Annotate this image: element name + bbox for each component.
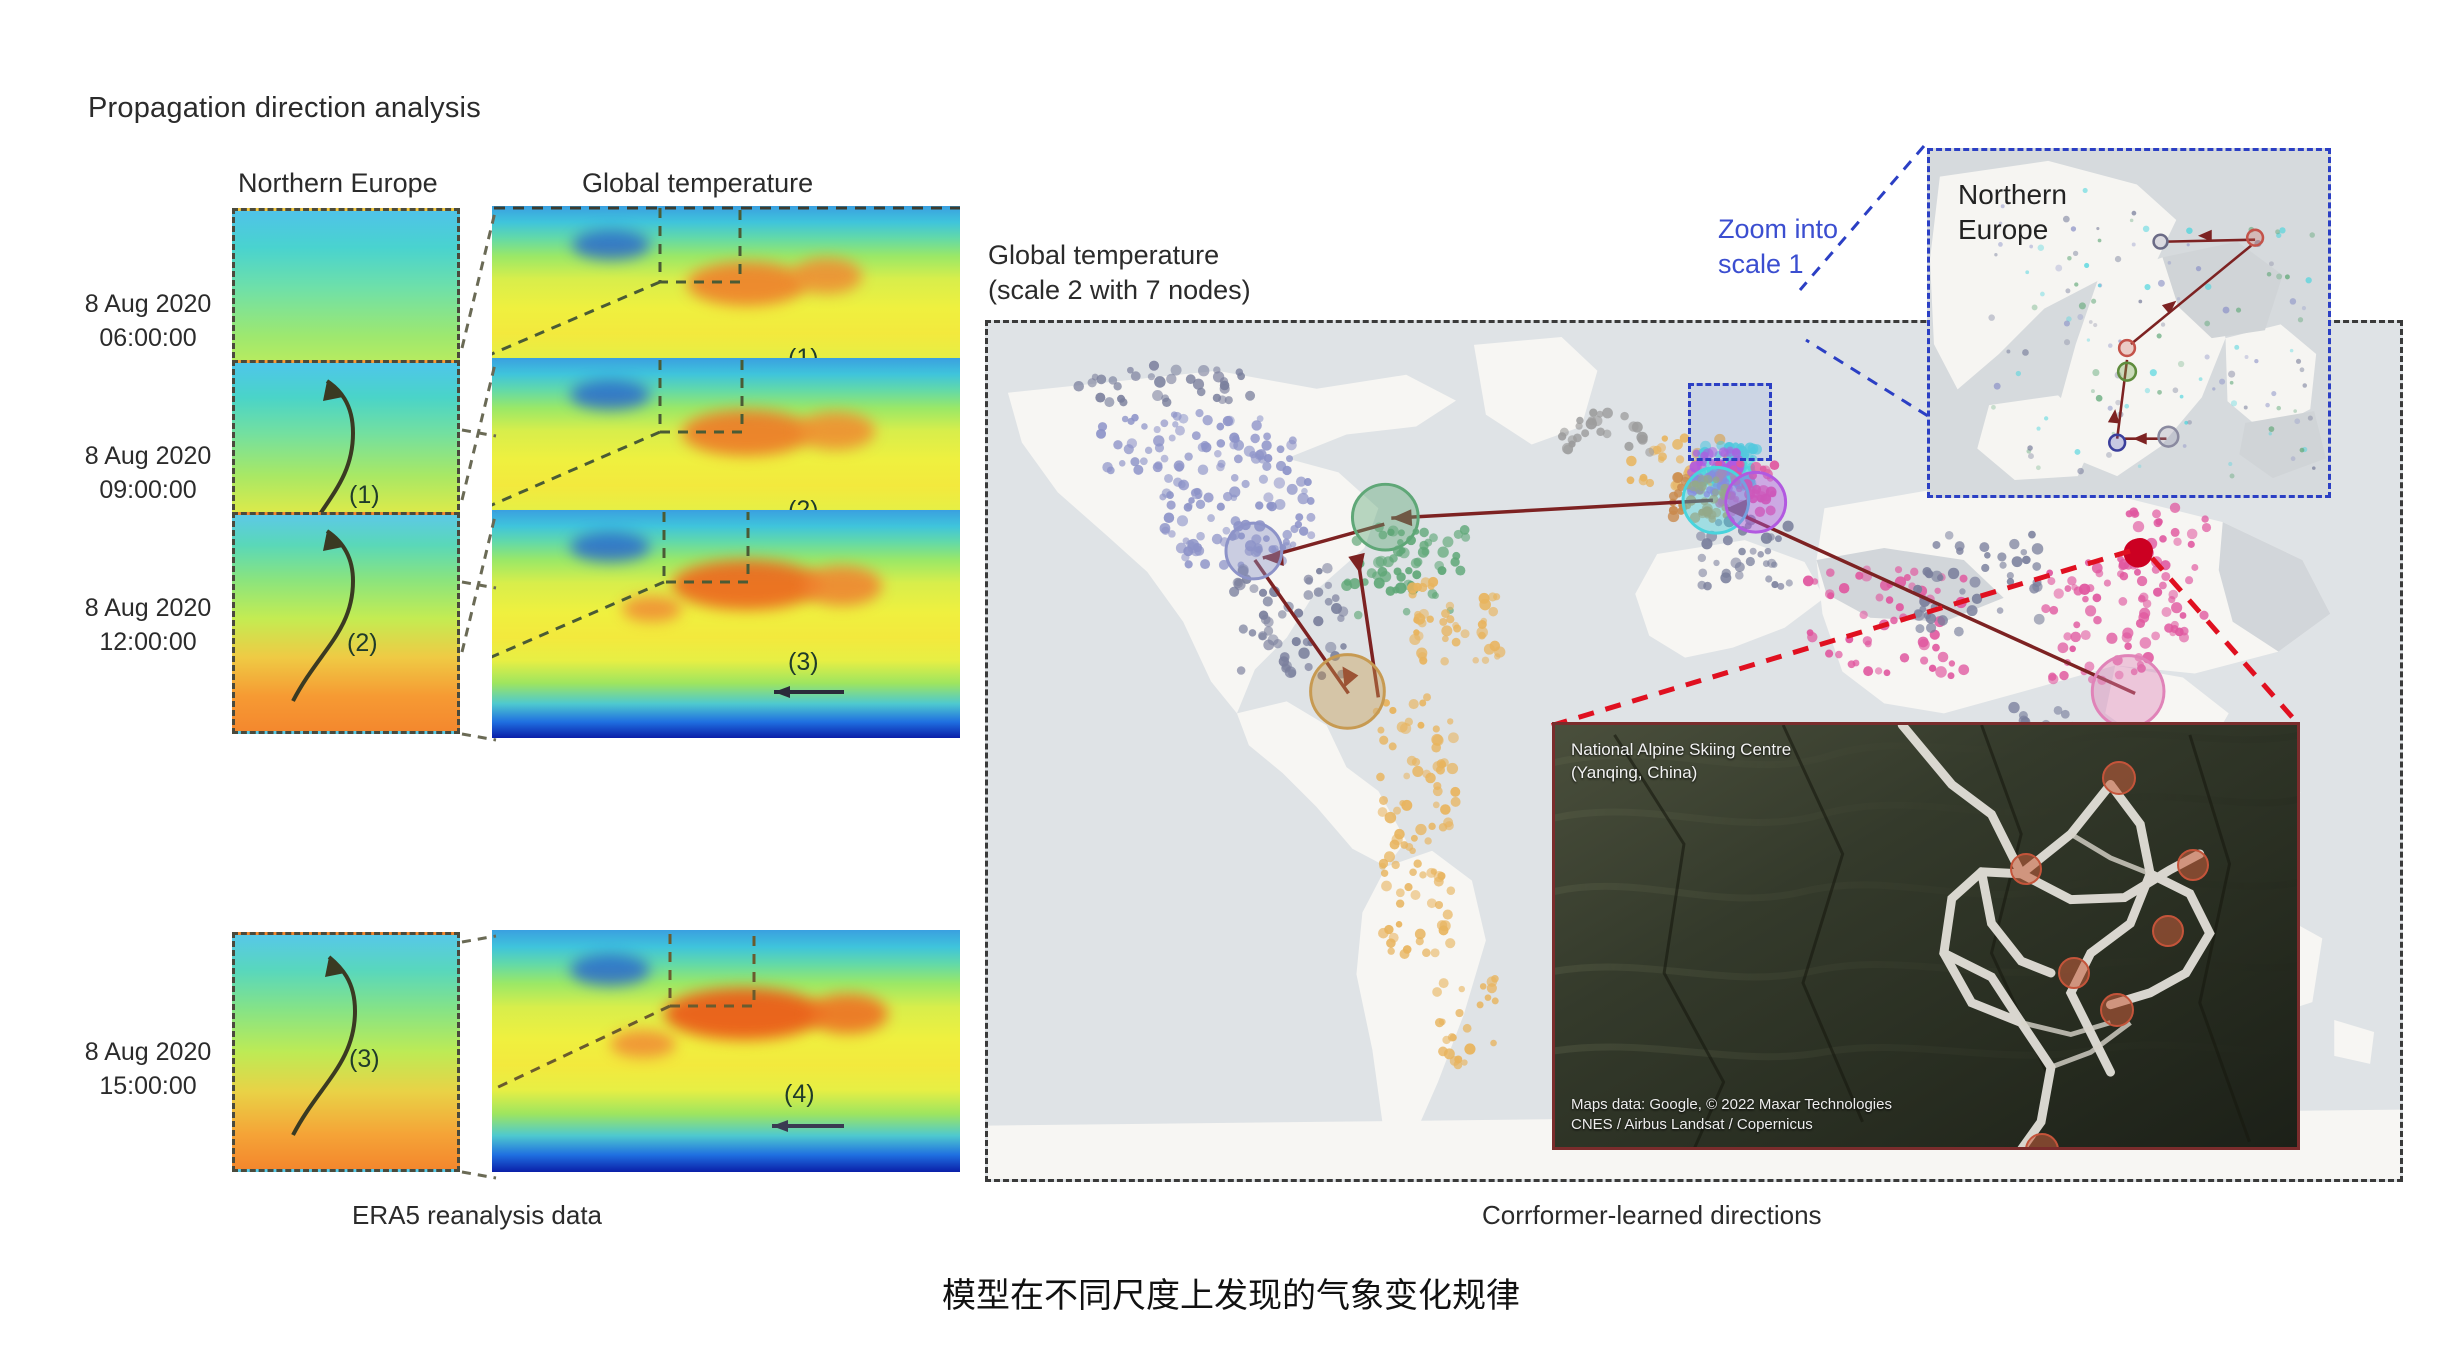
satellite-title: National Alpine Skiing Centre (Yanqing, … <box>1571 739 1791 785</box>
south-america-node[interactable] <box>1311 655 1385 729</box>
northern-europe-heatmap-3: (2) <box>232 512 460 734</box>
ski-node-marker[interactable] <box>2010 853 2042 885</box>
satellite-credit-line1: Maps data: Google, © 2022 Maxar Technolo… <box>1571 1095 1892 1115</box>
global-arrow-label-4: (4) <box>784 1080 815 1109</box>
satellite-title-line2: (Yanqing, China) <box>1571 762 1791 785</box>
row-time-3: 12:00:00 <box>42 626 254 660</box>
row-date-4: 8 Aug 2020 <box>42 1036 254 1070</box>
northern-europe-inset[interactable]: Northern Europe <box>1927 148 2331 498</box>
satellite-title-line1: National Alpine Skiing Centre <box>1571 739 1791 762</box>
right-panel-title-line2: (scale 2 with 7 nodes) <box>988 273 1251 308</box>
row-timestamp-1: 8 Aug 2020 06:00:00 <box>42 288 254 356</box>
right-panel-footer: Corrformer-learned directions <box>1482 1200 1822 1231</box>
zoom-into-scale-label: Zoom into scale 1 <box>1718 212 1838 282</box>
beijing-marker-node[interactable] <box>2125 540 2151 566</box>
satellite-inset[interactable]: National Alpine Skiing Centre (Yanqing, … <box>1552 722 2300 1150</box>
northern-europe-heatmap-4: (3) <box>232 932 460 1172</box>
satellite-credit: Maps data: Google, © 2022 Maxar Technolo… <box>1571 1095 1892 1136</box>
atlantic-node[interactable] <box>1352 484 1418 550</box>
row-timestamp-3: 8 Aug 2020 12:00:00 <box>42 592 254 660</box>
ski-node-marker[interactable] <box>2152 915 2184 947</box>
row-date-1: 8 Aug 2020 <box>42 288 254 322</box>
east-asia-node[interactable] <box>2092 656 2164 728</box>
ski-node-marker[interactable] <box>2058 957 2090 989</box>
section-title: Propagation direction analysis <box>88 92 481 125</box>
ski-node-marker[interactable] <box>2102 761 2136 795</box>
ski-node-marker[interactable] <box>2177 849 2209 881</box>
satellite-credit-line2: CNES / Airbus Landsat / Copernicus <box>1571 1115 1892 1135</box>
right-panel-title: Global temperature (scale 2 with 7 nodes… <box>988 238 1251 308</box>
row-time-2: 09:00:00 <box>42 474 254 508</box>
row-date-3: 8 Aug 2020 <box>42 592 254 626</box>
inset-title-line1: Northern <box>1958 177 2067 212</box>
row-timestamp-2: 8 Aug 2020 09:00:00 <box>42 440 254 508</box>
right-panel-title-line1: Global temperature <box>988 238 1251 273</box>
column-header-northern-europe: Northern Europe <box>238 168 438 199</box>
ski-node-marker[interactable] <box>2100 993 2134 1027</box>
row-timestamp-4: 8 Aug 2020 15:00:00 <box>42 1036 254 1104</box>
north-america-node[interactable] <box>1226 523 1282 579</box>
zoom-label-line2: scale 1 <box>1718 247 1838 282</box>
northern-europe-zoom-box[interactable] <box>1688 383 1772 461</box>
satellite-terrain-image <box>1555 725 2297 1150</box>
row-date-2: 8 Aug 2020 <box>42 440 254 474</box>
zoom-label-line1: Zoom into <box>1718 212 1838 247</box>
column-header-global-temperature: Global temperature <box>582 168 813 199</box>
figure-caption: 模型在不同尺度上发现的气象变化规律 <box>0 1268 2462 1317</box>
left-panel-footer: ERA5 reanalysis data <box>352 1200 602 1231</box>
row-time-1: 06:00:00 <box>42 322 254 356</box>
ne-arrow-label-3: (2) <box>347 629 378 658</box>
global-arrow-label-3: (3) <box>788 648 819 677</box>
ne-arrow-label-4: (3) <box>349 1045 380 1074</box>
inset-title-line2: Europe <box>1958 212 2067 247</box>
ne-arrow-label-2: (1) <box>349 481 380 510</box>
central-europe-node[interactable] <box>1726 472 1786 532</box>
global-temperature-heatmap-4: (4) <box>492 930 960 1172</box>
row-time-4: 15:00:00 <box>42 1070 254 1104</box>
global-temperature-heatmap-3: (3) <box>492 510 960 738</box>
northern-europe-inset-title: Northern Europe <box>1958 177 2067 247</box>
